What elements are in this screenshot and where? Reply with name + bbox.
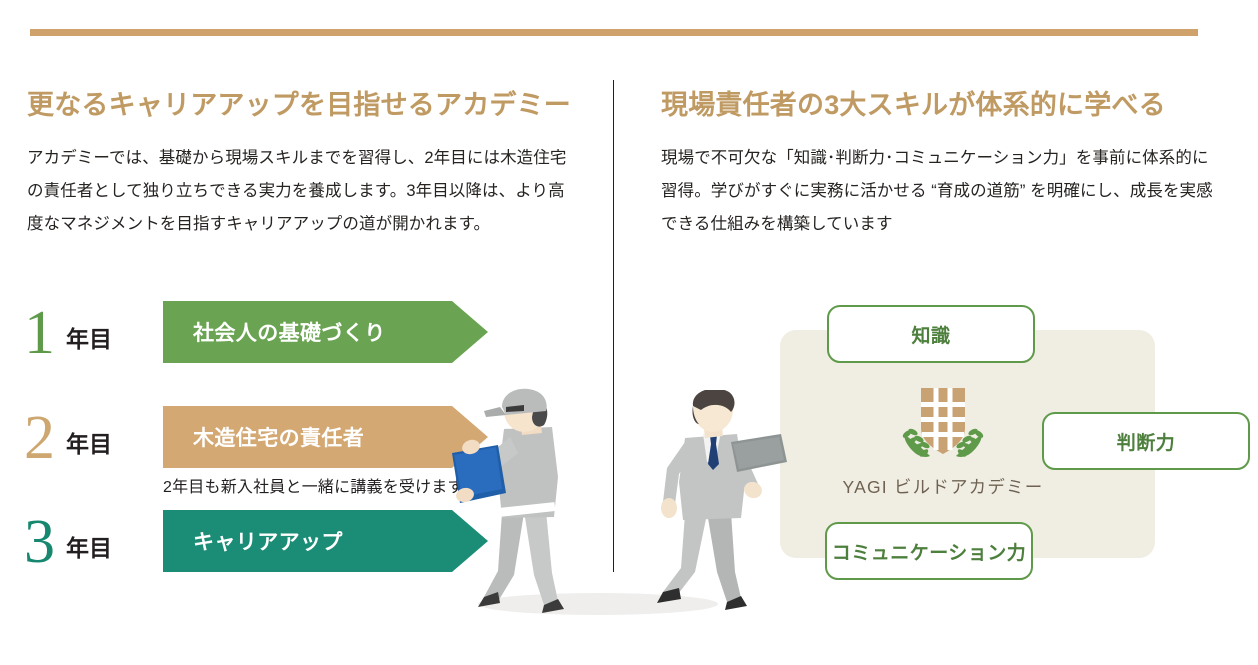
year-row: 1 年目 社会人の基礎づくり: [0, 296, 613, 368]
worker-with-clipboard-illustration: [440, 385, 610, 620]
year-number: 1: [24, 302, 55, 364]
academy-logo: YAGI ビルドアカデミー: [813, 384, 1073, 499]
infographic-root: 更なるキャリアアップを目指せるアカデミー アカデミーでは、基礎から現場スキルまで…: [0, 0, 1258, 665]
year-number: 2: [24, 407, 55, 469]
businessman-with-tablet-illustration: [645, 390, 805, 620]
year-suffix: 年目: [66, 425, 112, 459]
left-column-heading: 更なるキャリアアップを目指せるアカデミー: [27, 83, 571, 122]
shield-laurel-emblem-icon: [896, 384, 990, 470]
left-column-body: アカデミーでは、基礎から現場スキルまでを習得し、2年目には木造住宅の責任者として…: [27, 142, 579, 241]
year-note: 2年目も新入社員と一緒に講義を受けます。: [163, 473, 478, 497]
skill-box-communication: コミュニケーション力: [825, 522, 1033, 580]
academy-logo-text: YAGI ビルドアカデミー: [813, 474, 1073, 499]
year-label: 3 年目: [24, 505, 154, 577]
year-suffix: 年目: [66, 320, 112, 354]
year-label: 2 年目: [24, 401, 154, 473]
year-number: 3: [24, 511, 55, 573]
skill-box-judgement: 判断力: [1042, 412, 1250, 470]
year-arrow-banner: 社会人の基礎づくり: [163, 301, 488, 363]
skill-box-knowledge: 知識: [827, 305, 1035, 363]
year-label: 1 年目: [24, 296, 154, 368]
year-suffix: 年目: [66, 529, 112, 563]
